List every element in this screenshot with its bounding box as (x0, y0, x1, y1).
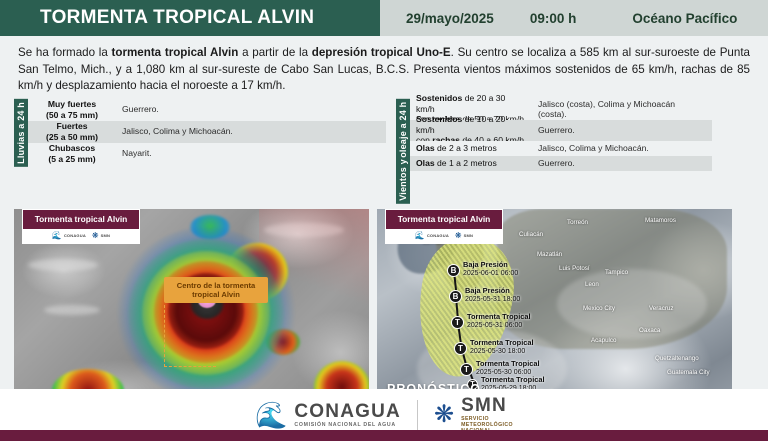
wind-table: Vientos y oleaje a 24 h Sostenidos de 20… (396, 99, 712, 204)
wind-vertical-label-line2: oleaje a 24 h (398, 102, 408, 158)
table-row: Olas de 1 a 2 metros Guerrero. (410, 156, 712, 171)
wind-condition-cell: Olas de 1 a 2 metros (410, 156, 532, 171)
wind-condition-cell: Sostenidos de 10 a 20 km/h con rachas de… (410, 120, 532, 141)
table-row: Chubascos (5 a 25 mm) Nayarit. (28, 143, 386, 165)
wind-rest-1: de 2 a 3 metros (435, 143, 497, 153)
wind-table-rows: Sostenidos de 20 a 30 km/h con rachas de… (410, 99, 712, 204)
header-meta: 29/mayo/2025 09:00 h Océano Pacífico (380, 0, 768, 36)
wind-vertical-label-line1: Vientos y (398, 159, 408, 201)
wind-line-1: Olas de 1 a 2 metros (416, 158, 497, 169)
rain-range: (5 a 25 mm) (48, 154, 95, 165)
rain-table-vertical-label: Lluvias a 24 h (14, 99, 28, 167)
forecast-tables: Lluvias a 24 h Muy fuertes (50 a 75 mm) … (0, 99, 768, 204)
track-point-timestamp: 2025-05-31 06:00 (467, 322, 531, 331)
wind-states: Guerrero. (532, 156, 712, 171)
conagua-logo: 🌊 CONAGUA COMISIÓN NACIONAL DEL AGUA (255, 402, 401, 428)
city-label: Acapulco (591, 337, 616, 344)
header-time: 09:00 h (530, 11, 577, 26)
city-label: Luis Potosí (559, 265, 590, 272)
track-point-label: Tormenta Tropical 2025-05-31 06:00 (467, 313, 531, 330)
city-label: Guatemala City (667, 369, 710, 376)
conagua-logo-mini: 🌊 CONAGUA (52, 232, 86, 240)
rain-category-cell: Fuertes (25 a 50 mm) (28, 121, 116, 143)
city-label: Culiacán (519, 231, 543, 238)
track-point-label: Baja Presión 2025-06-01 06:00 (463, 261, 518, 278)
city-label: Mazatlán (537, 251, 562, 258)
rain-states: Jalisco, Colima y Michoacán. (116, 121, 386, 143)
summary-part-2: a partir de la (238, 46, 311, 59)
badge-title: Tormenta tropical Alvin (23, 210, 139, 229)
table-row: Olas de 2 a 3 metros Jalisco, Colima y M… (410, 141, 712, 156)
badge-title: Tormenta tropical Alvin (386, 210, 502, 229)
badge-logos: 🌊 CONAGUA ❋ SMN (386, 229, 502, 243)
storm-center-callout: Centro de la tormenta tropical Alvin (164, 277, 268, 303)
track-point-type: Tormenta Tropical (476, 360, 540, 369)
rain-category-cell: Chubascos (5 a 25 mm) (28, 143, 116, 165)
smn-mini-label: SMN (101, 234, 111, 238)
conagua-subtitle: COMISIÓN NACIONAL DEL AGUA (294, 422, 401, 428)
wind-lead-1: Sostenidos (416, 93, 462, 103)
wind-lead-1: Olas (416, 158, 435, 168)
image-panels: Centro de la tormenta tropical Alvin Tor… (0, 203, 768, 414)
bottom-accent-bar (0, 430, 768, 441)
page-title: TORMENTA TROPICAL ALVIN (40, 7, 314, 29)
wind-lead-1: Olas (416, 143, 435, 153)
cloud-field (557, 269, 707, 339)
city-label: Quetzaltenango (655, 355, 699, 362)
smn-text: SMN SERVICIO METEOROLÓGICO NACIONAL (461, 396, 513, 435)
wind-line-1: Olas de 2 a 3 metros (416, 143, 497, 154)
city-label: Tampico (605, 269, 628, 276)
badge-logos: 🌊 CONAGUA ❋ SMN (23, 229, 139, 243)
callout-pointer-horizontal (164, 366, 216, 367)
rain-states: Guerrero. (116, 99, 386, 121)
table-row: Fuertes (25 a 50 mm) Jalisco, Colima y M… (28, 121, 386, 143)
conagua-mini-label: CONAGUA (427, 234, 449, 238)
track-point-type: Baja Presión (463, 261, 518, 270)
summary-bold-1: tormenta tropical Alvin (112, 46, 239, 59)
city-label: Torreón (567, 219, 588, 226)
satellite-badge: Tormenta tropical Alvin 🌊 CONAGUA ❋ SMN (22, 209, 140, 244)
footer-divider (417, 400, 418, 430)
rain-category: Fuertes (56, 121, 87, 132)
header-title-box: TORMENTA TROPICAL ALVIN (0, 0, 380, 36)
city-label: Veracruz (649, 305, 673, 312)
table-row: Muy fuertes (50 a 75 mm) Guerrero. (28, 99, 386, 121)
rain-table-rows: Muy fuertes (50 a 75 mm) Guerrero. Fuert… (28, 99, 386, 167)
summary-paragraph: Se ha formado la tormenta tropical Alvin… (0, 36, 768, 99)
track-point-timestamp: 2025-05-31 18:00 (465, 296, 520, 305)
city-label: Leon (585, 281, 599, 288)
track-point-type: Baja Presión (465, 287, 520, 296)
track-point-type: Tormenta Tropical (470, 339, 534, 348)
rain-range: (50 a 75 mm) (46, 110, 98, 121)
table-row: Sostenidos de 10 a 20 km/h con rachas de… (410, 120, 712, 141)
conagua-mini-label: CONAGUA (64, 234, 86, 238)
wind-line-1: Sostenidos de 20 a 30 km/h (416, 93, 526, 114)
wind-condition-cell: Olas de 2 a 3 metros (410, 141, 532, 156)
smn-logo-mini: ❋ SMN (455, 232, 473, 240)
wind-states: Guerrero. (532, 120, 712, 141)
rain-range: (25 a 50 mm) (46, 132, 98, 143)
storm-core (132, 237, 282, 387)
smn-logo-mini: ❋ SMN (92, 232, 110, 240)
aztec-spiral-icon: ❋ (434, 403, 454, 427)
track-point-label: Tormenta Tropical 2025-05-30 18:00 (470, 339, 534, 356)
summary-part-1: Se ha formado la (18, 46, 112, 59)
eagle-icon: 🌊 (415, 232, 425, 240)
forecast-track-panel: B Baja Presión 2025-06-01 06:00 B Baja P… (377, 209, 732, 414)
track-point-timestamp: 2025-06-01 06:00 (463, 270, 518, 279)
city-label: Matamoros (645, 217, 676, 224)
wind-line-1: Sostenidos de 10 a 20 km/h (416, 114, 526, 135)
header-date: 29/mayo/2025 (406, 11, 494, 26)
satellite-panel: Centro de la tormenta tropical Alvin Tor… (14, 209, 369, 414)
rain-states: Nayarit. (116, 143, 386, 165)
wind-rest-1: de 1 a 2 metros (435, 158, 497, 168)
rain-category: Chubascos (49, 143, 95, 154)
track-point-type: Tormenta Tropical (467, 313, 531, 322)
summary-bold-2: depresión tropical Uno-E (312, 46, 451, 59)
eagle-icon: 🌊 (52, 232, 62, 240)
conagua-text: CONAGUA COMISIÓN NACIONAL DEL AGUA (294, 402, 401, 428)
track-point-timestamp: 2025-05-30 18:00 (470, 348, 534, 357)
city-label: Oaxaca (639, 327, 660, 334)
spiral-icon: ❋ (455, 232, 462, 240)
eagle-water-icon: 🌊 (255, 402, 287, 428)
track-point-label: Baja Presión 2025-05-31 18:00 (465, 287, 520, 304)
header-basin: Océano Pacífico (632, 11, 737, 26)
callout-pointer-vertical (164, 305, 165, 367)
wind-lead-1: Sostenidos (416, 114, 462, 124)
rain-category-cell: Muy fuertes (50 a 75 mm) (28, 99, 116, 121)
city-label: Mexico City (583, 305, 615, 312)
smn-logo: ❋ SMN SERVICIO METEOROLÓGICO NACIONAL (434, 396, 513, 435)
bulletin-page: TORMENTA TROPICAL ALVIN 29/mayo/2025 09:… (0, 0, 768, 441)
rain-category: Muy fuertes (48, 99, 96, 110)
wind-table-vertical-label: Vientos y oleaje a 24 h (396, 99, 410, 204)
forecast-badge: Tormenta tropical Alvin 🌊 CONAGUA ❋ SMN (385, 209, 503, 244)
smn-mini-label: SMN (464, 234, 474, 238)
header-bar: TORMENTA TROPICAL ALVIN 29/mayo/2025 09:… (0, 0, 768, 36)
wind-states: Jalisco (costa), Colima y Michoacán (cos… (532, 99, 712, 120)
conagua-logo-mini: 🌊 CONAGUA (415, 232, 449, 240)
conagua-name: CONAGUA (294, 402, 401, 422)
smn-name: SMN (461, 396, 513, 416)
rain-table: Lluvias a 24 h Muy fuertes (50 a 75 mm) … (14, 99, 386, 167)
spiral-icon: ❋ (92, 232, 99, 240)
wind-states: Jalisco, Colima y Michoacán. (532, 141, 712, 156)
